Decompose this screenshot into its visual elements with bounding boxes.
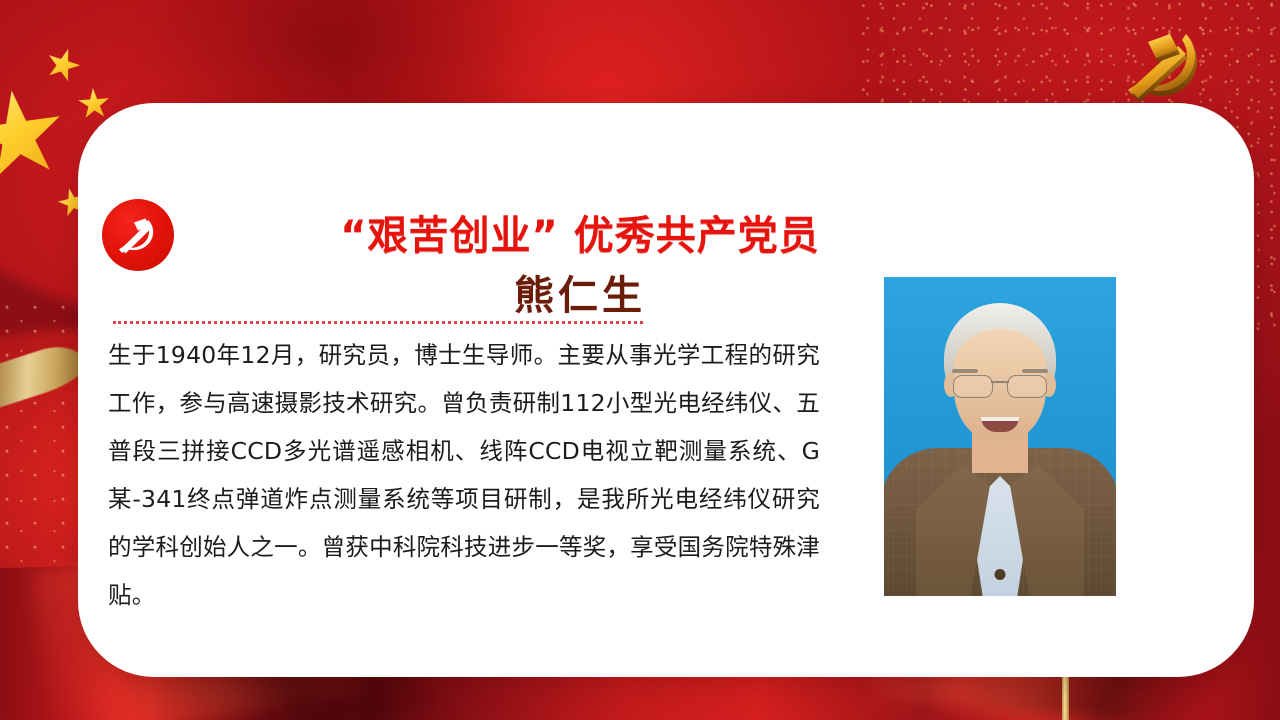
- person-name: 熊仁生: [200, 263, 960, 321]
- content-card: “艰苦创业” 优秀共产党员 熊仁生 生于1940年12月，研究员，博士生导师。主…: [78, 103, 1254, 677]
- flag-star-small-2: [77, 87, 111, 121]
- portrait-brow-left: [952, 369, 978, 373]
- portrait-glasses-bridge: [991, 381, 1009, 383]
- portrait-photo: 熊仁生证件照: [884, 277, 1116, 596]
- slide-root: “艰苦创业” 优秀共产党员 熊仁生 生于1940年12月，研究员，博士生导师。主…: [0, 0, 1280, 720]
- portrait-alt-label: 熊仁生证件照: [884, 277, 885, 278]
- party-emblem-gold-icon: [1108, 24, 1216, 106]
- portrait-brow-right: [1022, 369, 1048, 373]
- hammer-and-sickle-icon: [115, 212, 161, 258]
- dotted-divider: [113, 321, 643, 324]
- flag-star-small-1: [42, 44, 85, 87]
- flag-star-large: [0, 84, 70, 188]
- page-title: “艰苦创业” 优秀共产党员: [200, 203, 960, 261]
- portrait-jacket-button: [995, 569, 1006, 580]
- party-badge: [102, 199, 174, 271]
- biography-text: 生于1940年12月，研究员，博士生导师。主要从事光学工程的研究工作，参与高速摄…: [108, 331, 820, 619]
- portrait-glasses: [951, 375, 1049, 397]
